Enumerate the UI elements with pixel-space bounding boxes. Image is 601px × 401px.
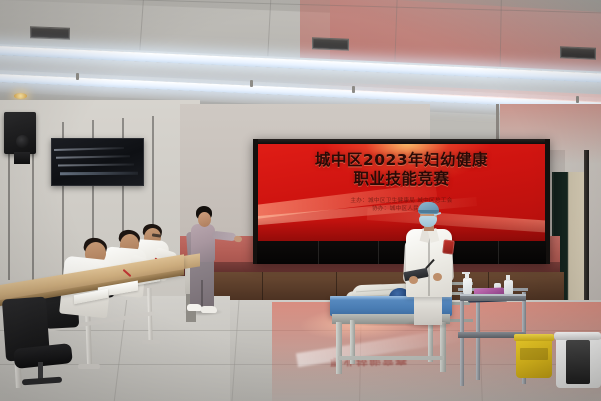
speaker-cone-icon (16, 135, 29, 148)
instructor-head (198, 212, 211, 227)
sprinkler-head-icon (76, 73, 79, 80)
competition-hall-photo: 城中区2023年妇幼健康 职业技能竞赛 主办：城中区卫生健康局 城中区总工会 协… (0, 0, 601, 401)
screen-title-text: 城中区2023年妇幼健康 职业技能竞赛 (257, 151, 546, 189)
examination-table-crossbar (338, 356, 444, 360)
stage-led-screen[interactable]: 城中区2023年妇幼健康 职业技能竞赛 主办：城中区卫生健康局 城中区总工会 协… (257, 143, 546, 241)
hand-sanitizer-bottle[interactable] (463, 278, 472, 295)
screen-top-bezel (253, 139, 550, 144)
sanitizer-pump-icon (506, 275, 510, 281)
monitor-reflection (60, 172, 138, 176)
instructor-leg-separation (201, 280, 203, 308)
stage-panel-seam (262, 272, 263, 302)
sprinkler-head-icon (352, 86, 355, 93)
waste-bin-lid[interactable] (514, 334, 554, 341)
nurse-hand (433, 273, 442, 281)
screen-lower-dark-panels (257, 241, 546, 264)
sanitizer-nozzle-icon (462, 272, 470, 274)
screen-panel-divider (318, 241, 319, 264)
screen-bottom-shade (257, 219, 546, 241)
screen-subtitle-text: 主办：城中区卫生健康局 城中区总工会 协办：城中区人民医院 (257, 197, 546, 213)
nurse-hand (409, 276, 418, 284)
nurse-lower-body (414, 295, 442, 325)
ceiling-downlight (14, 93, 27, 99)
air-vent-icon (560, 46, 596, 60)
wall-mounted-monitor[interactable] (51, 138, 144, 186)
air-vent-icon (312, 37, 349, 51)
examination-table-leg (336, 322, 342, 374)
air-vent-icon (30, 26, 70, 39)
contestant-armband-badge (442, 239, 455, 254)
wall-panel-strip (152, 116, 154, 234)
table-leg-foot (78, 364, 100, 369)
speaker-bracket (14, 152, 30, 164)
white-bin-lid[interactable] (554, 332, 601, 340)
sprinkler-head-icon (576, 96, 579, 103)
examination-table-leg (440, 322, 446, 372)
instructor-shoe (201, 306, 217, 313)
screen-panel-divider (498, 241, 499, 264)
instructor-shoe (187, 304, 202, 311)
hand-sanitizer-bottle[interactable] (504, 280, 513, 295)
table-leg-foot (142, 340, 160, 344)
screen-panel-divider (378, 241, 379, 264)
white-bin-opening (566, 340, 590, 384)
surgical-cap-band (418, 210, 439, 213)
sprinkler-head-icon (250, 80, 253, 87)
waste-bin-label (520, 348, 548, 360)
cart-shelf-highlight (460, 294, 526, 296)
cart-post (460, 292, 464, 386)
